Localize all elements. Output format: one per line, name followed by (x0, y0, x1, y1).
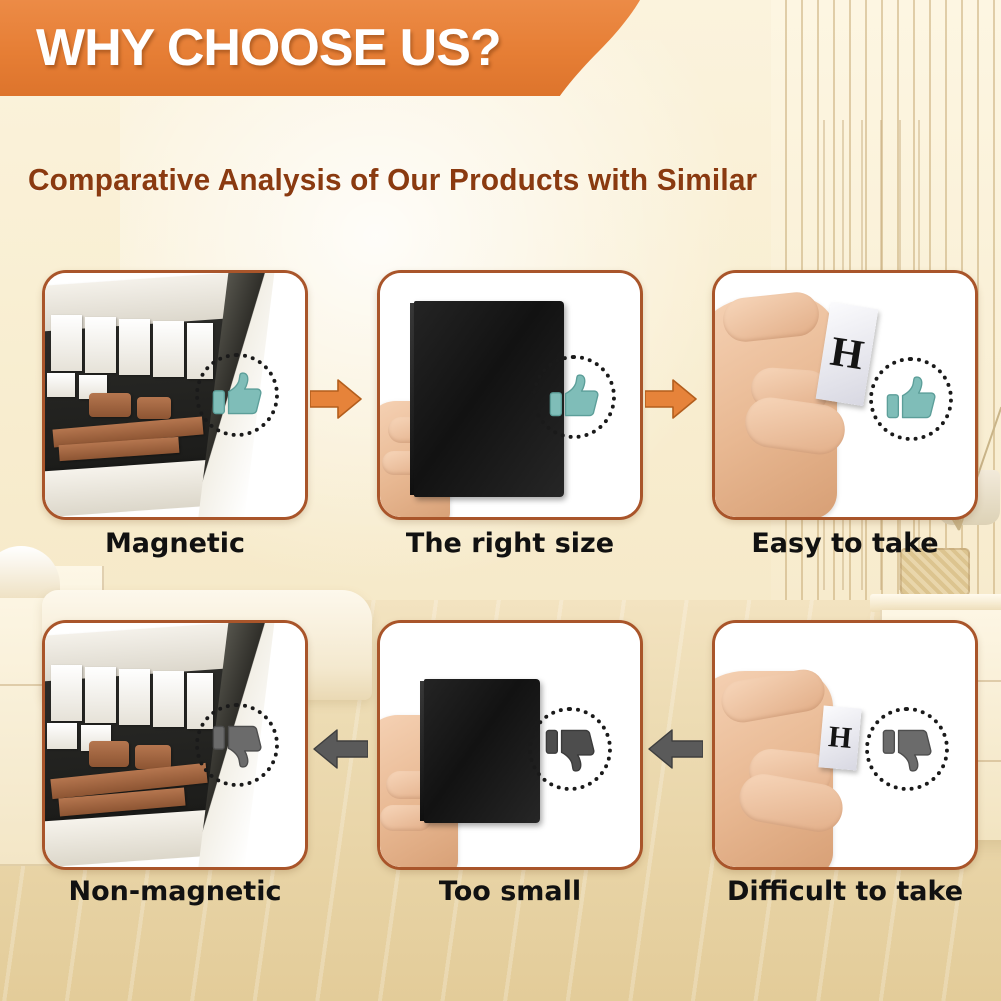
arrow-similar-2-to-1 (312, 728, 368, 770)
card-label-too-small: Too small (377, 876, 643, 907)
arrow-ours-2-to-3 (645, 378, 697, 420)
card-magnetic[interactable] (42, 270, 308, 520)
tile-letter-h: H (818, 705, 861, 770)
verdict-badge-positive (532, 355, 616, 439)
card-label-easy-to-take: Easy to take (712, 528, 978, 559)
card-too-small[interactable] (377, 620, 643, 870)
verdict-badge-positive (195, 353, 279, 437)
card-non-magnetic[interactable] (42, 620, 308, 870)
card-the-right-size[interactable] (377, 270, 643, 520)
card-label-the-right-size: The right size (377, 528, 643, 559)
poster-root: WHY CHOOSE US? Comparative Analysis of O… (0, 0, 1001, 1001)
subtitle: Comparative Analysis of Our Products wit… (28, 162, 757, 198)
verdict-badge-negative (195, 703, 279, 787)
card-label-difficult-to-take: Difficult to take (712, 876, 978, 907)
card-easy-to-take[interactable]: H (712, 270, 978, 520)
verdict-badge-negative (528, 707, 612, 791)
page-title: WHY CHOOSE US? (36, 18, 501, 78)
verdict-badge-positive (869, 357, 953, 441)
arrow-similar-3-to-2 (647, 728, 703, 770)
card-difficult-to-take[interactable]: H (712, 620, 978, 870)
verdict-badge-negative (865, 707, 949, 791)
arrow-ours-1-to-2 (310, 378, 362, 420)
card-label-magnetic: Magnetic (42, 528, 308, 559)
card-label-non-magnetic: Non-magnetic (42, 876, 308, 907)
